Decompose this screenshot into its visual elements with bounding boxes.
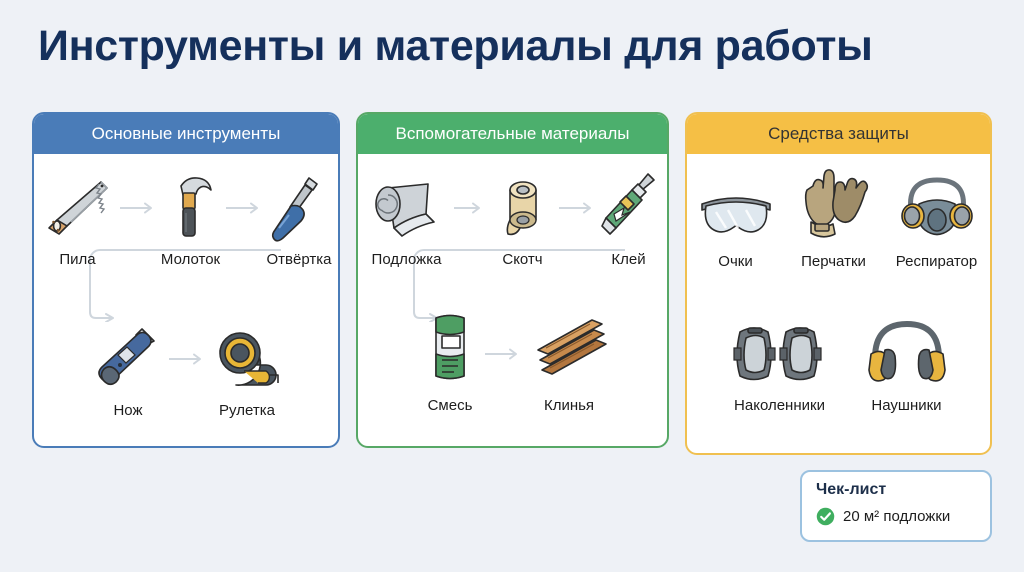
panel-header-auxiliary-materials: Вспомогательные материалы [358, 114, 667, 154]
flow-arrow [115, 170, 161, 246]
item-label: Скотч [502, 251, 542, 268]
checklist-item[interactable]: 20 м² подложки [816, 507, 978, 526]
item-hammer[interactable]: Молоток [161, 168, 221, 268]
item-wedges[interactable]: Клинья [526, 314, 612, 414]
screwdriver-icon [269, 168, 329, 244]
item-mix[interactable]: Смесь [420, 314, 480, 414]
knee-pads-icon [728, 314, 832, 390]
item-label: Перчатки [801, 253, 866, 270]
panel-header-protective-equipment: Средства защиты [687, 114, 990, 154]
work-gloves-icon [791, 170, 877, 246]
item-label: Подложка [372, 251, 442, 268]
item-saw[interactable]: Пила [41, 168, 115, 268]
item-utility-knife[interactable]: Нож [92, 319, 164, 419]
safety-goggles-icon [694, 170, 778, 246]
item-glue[interactable]: Клей [600, 168, 658, 268]
underlay-roll-icon [368, 168, 446, 244]
hammer-icon [161, 168, 221, 244]
panel-basic-tools: Основные инструменты [32, 112, 340, 448]
panel-body-auxiliary-materials: Подложка [358, 154, 667, 446]
saw-icon [41, 168, 115, 244]
item-label: Пила [59, 251, 95, 268]
page-title: Инструменты и материалы для работы [38, 22, 873, 71]
item-label: Наушники [871, 397, 941, 414]
panel-auxiliary-materials: Вспомогательные материалы [356, 112, 669, 448]
item-gloves[interactable]: Перчатки [784, 170, 884, 270]
safety-row-2: Наколенники Наушники [687, 314, 990, 414]
item-label: Отвёртка [267, 251, 332, 268]
item-label: Нож [113, 402, 142, 419]
material-row-2: Смесь Клинья [358, 314, 669, 414]
item-knee-pads[interactable]: Наколенники [712, 314, 848, 414]
flow-arrow [480, 316, 526, 392]
green-check-icon [816, 507, 835, 526]
panel-protective-equipment: Средства защиты Очки [685, 112, 992, 455]
ear-defenders-icon [861, 314, 953, 390]
respirator-icon [893, 170, 981, 246]
tape-roll-icon [492, 168, 554, 244]
mix-bag-icon [420, 314, 480, 390]
panel-body-basic-tools: Пила Молоток [34, 154, 338, 446]
item-label: Молоток [161, 251, 220, 268]
item-adhesive-tape[interactable]: Скотч [492, 168, 554, 268]
flow-arrow [221, 170, 267, 246]
utility-knife-icon [92, 319, 164, 395]
flow-arrow [164, 321, 210, 397]
item-goggles[interactable]: Очки [688, 170, 784, 270]
panel-body-protective-equipment: Очки Перчатки [687, 154, 990, 453]
flow-arrow [446, 170, 492, 246]
checklist-item-text: 20 м² подложки [843, 508, 950, 525]
item-label: Очки [718, 253, 752, 270]
item-label: Клей [611, 251, 645, 268]
tape-measure-icon [210, 319, 284, 395]
item-screwdriver[interactable]: Отвёртка [267, 168, 332, 268]
checklist-card: Чек-лист 20 м² подложки [800, 470, 992, 542]
item-ear-defenders[interactable]: Наушники [848, 314, 966, 414]
item-respirator[interactable]: Респиратор [884, 170, 990, 270]
glue-tube-icon [600, 168, 658, 244]
tool-row-1: Пила Молоток [34, 168, 338, 268]
item-label: Клинья [544, 397, 594, 414]
item-underlay[interactable]: Подложка [368, 168, 446, 268]
tool-row-2: Нож [34, 319, 340, 419]
safety-row-1: Очки Перчатки [687, 170, 990, 270]
wedges-icon [526, 314, 612, 390]
checklist-title: Чек-лист [816, 481, 978, 499]
material-row-1: Подложка [358, 168, 667, 268]
panel-header-basic-tools: Основные инструменты [34, 114, 338, 154]
item-tape-measure[interactable]: Рулетка [210, 319, 284, 419]
item-label: Рулетка [219, 402, 275, 419]
item-label: Смесь [428, 397, 473, 414]
item-label: Наколенники [734, 397, 825, 414]
flow-arrow [554, 170, 600, 246]
item-label: Респиратор [896, 253, 977, 270]
